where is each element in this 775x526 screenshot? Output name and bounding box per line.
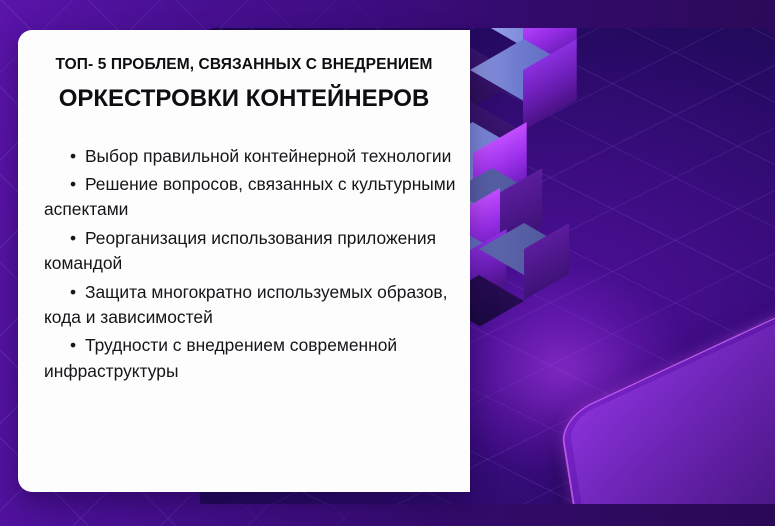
list-item: • Защита многократно используемых образо… [44,280,458,331]
list-item-label: Реорганизация использования приложения к… [44,228,436,273]
list-item: • Трудности с внедрением современной инф… [44,333,458,384]
list-item: • Реорганизация использования приложения… [44,226,458,277]
bullet-marker-icon: • [70,228,80,248]
isometric-smartphone [561,237,775,504]
list-item-label: Выбор правильной контейнерной технологии [85,146,451,166]
page-title: ТОП- 5 ПРОБЛЕМ, СВЯЗАННЫХ С ВНЕДРЕНИЕМ О… [18,30,470,114]
list-item-label: Защита многократно используемых образов,… [44,282,447,327]
list-item-label: Решение вопросов, связанных с культурным… [44,174,455,219]
heading-line-2: ОРКЕСТРОВКИ КОНТЕЙНЕРОВ [32,84,456,114]
bullet-marker-icon: • [70,146,80,166]
bullet-marker-icon: • [70,335,80,355]
phone-screen [568,245,775,504]
heading-line-1: ТОП- 5 ПРОБЛЕМ, СВЯЗАННЫХ С ВНЕДРЕНИЕМ [32,56,456,75]
list-item-label: Трудности с внедрением современной инфра… [44,335,397,380]
list-item: • Выбор правильной контейнерной технолог… [44,144,458,169]
content-card: ТОП- 5 ПРОБЛЕМ, СВЯЗАННЫХ С ВНЕДРЕНИЕМ О… [18,30,470,492]
list-item: • Решение вопросов, связанных с культурн… [44,172,458,223]
container-cube [479,249,531,301]
problems-list: • Выбор правильной контейнерной технолог… [18,144,470,385]
slide-canvas: ТОП- 5 ПРОБЛЕМ, СВЯЗАННЫХ С ВНЕДРЕНИЕМ О… [0,0,775,526]
bullet-marker-icon: • [70,174,80,194]
bullet-marker-icon: • [70,282,80,302]
